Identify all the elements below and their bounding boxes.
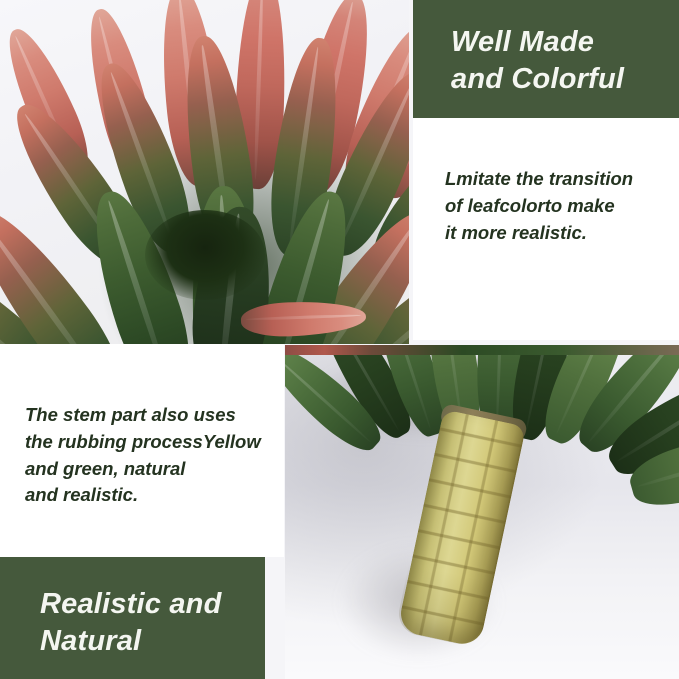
leaves-photo xyxy=(0,0,409,344)
stem-photo-top-edge-strip xyxy=(285,345,679,355)
feature-text-block-top: Lmitate the transition of leafcolorto ma… xyxy=(413,118,679,340)
headline-block-bottom: Realistic and Natural xyxy=(0,557,265,679)
leaf-rosette-center xyxy=(145,210,265,300)
headline-top-text: Well Made and Colorful xyxy=(451,24,624,98)
product-feature-collage: Well Made and Colorful Lmitate the trans… xyxy=(0,0,679,679)
feature-top-text: Lmitate the transition of leafcolorto ma… xyxy=(445,166,665,246)
headline-block-top: Well Made and Colorful xyxy=(413,0,679,118)
feature-bottom-text: The stem part also uses the rubbing proc… xyxy=(25,402,275,509)
headline-bottom-text: Realistic and Natural xyxy=(40,586,222,660)
stem-photo xyxy=(285,345,679,679)
feature-text-block-bottom: The stem part also uses the rubbing proc… xyxy=(0,344,284,557)
